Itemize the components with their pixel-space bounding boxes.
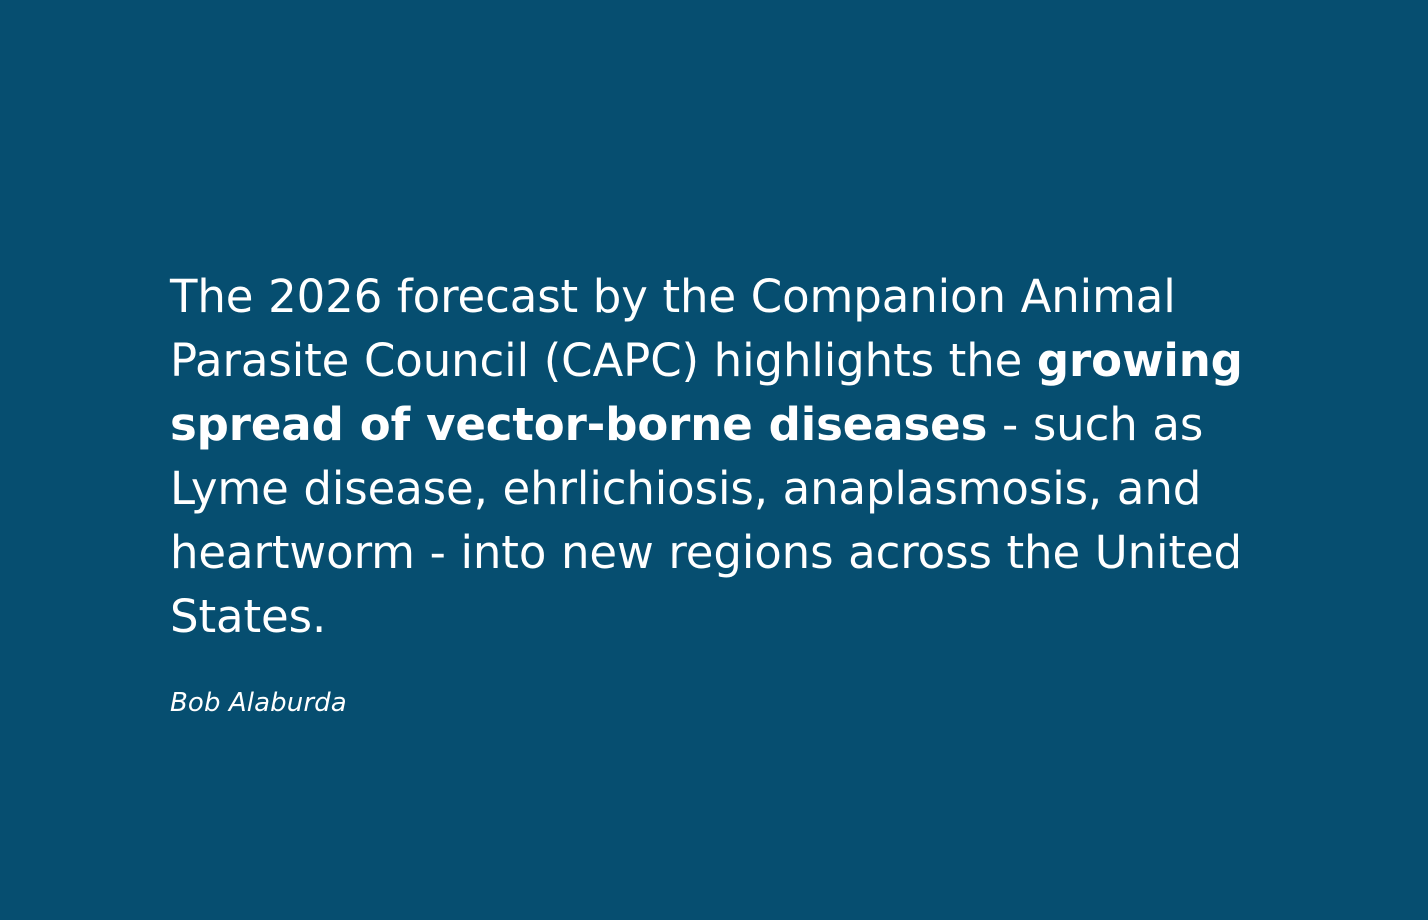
quote-text: The 2026 forecast by the Companion Anima… — [170, 265, 1260, 649]
quote-block: The 2026 forecast by the Companion Anima… — [170, 265, 1260, 719]
attribution-author: Bob Alaburda — [170, 649, 1260, 719]
quote-segment-lead: The 2026 forecast by the Companion Anima… — [170, 270, 1176, 387]
quote-card: The 2026 forecast by the Companion Anima… — [0, 0, 1428, 920]
